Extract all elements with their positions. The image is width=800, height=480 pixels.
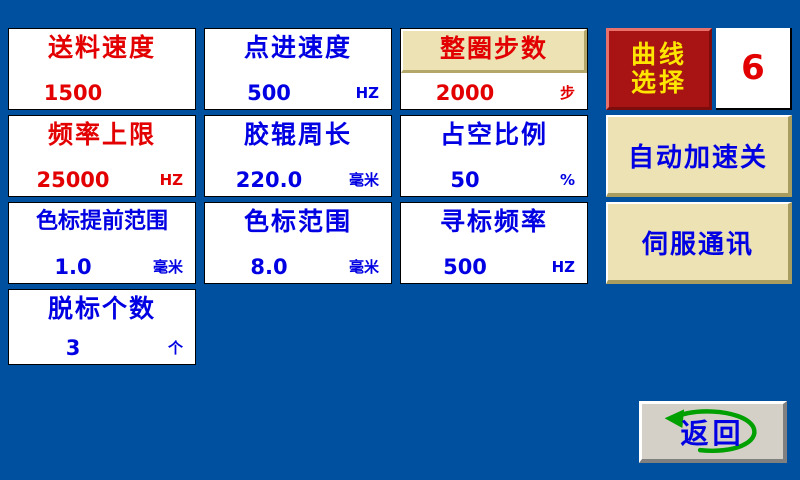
param-unit: HZ (160, 170, 183, 190)
param-title: 送料速度 (9, 33, 195, 63)
servo-comm-label: 伺服通讯 (642, 224, 754, 261)
param-unit: 个 (168, 338, 183, 358)
curve-select-label-line2: 选择 (631, 69, 687, 97)
param-title: 整圈步数 (401, 34, 587, 64)
param-title: 色标范围 (205, 207, 391, 237)
param-value: 500 (205, 82, 333, 104)
param-unit: 毫米 (153, 257, 183, 277)
param-value: 2000 (401, 82, 529, 104)
param-title: 胶辊周长 (205, 120, 391, 150)
param-cell-duty-ratio[interactable]: 占空比例 50 % (400, 115, 588, 197)
param-cell-mark-seek-frequency[interactable]: 寻标频率 500 HZ (400, 202, 588, 284)
param-value: 3 (9, 337, 137, 359)
param-cell-mark-range[interactable]: 色标范围 8.0 毫米 (204, 202, 392, 284)
param-unit: HZ (552, 257, 575, 277)
param-title: 频率上限 (9, 120, 195, 150)
param-cell-roller-circumference[interactable]: 胶辊周长 220.0 毫米 (204, 115, 392, 197)
param-value: 1500 (9, 82, 137, 104)
param-cell-mark-advance-range[interactable]: 色标提前范围 1.0 毫米 (8, 202, 196, 284)
curve-select-label-line1: 曲线 (631, 41, 687, 69)
return-button-label: 返回 (642, 412, 783, 452)
curve-select-button[interactable]: 曲线 选择 (606, 28, 712, 110)
param-cell-jog-speed[interactable]: 点进速度 500 HZ (204, 28, 392, 110)
param-title: 脱标个数 (9, 294, 195, 324)
param-unit: HZ (356, 83, 379, 103)
param-unit: % (560, 170, 575, 190)
param-cell-full-turn-steps[interactable]: 整圈步数 2000 步 (400, 28, 588, 110)
curve-select-value[interactable]: 6 (716, 28, 792, 110)
param-unit: 毫米 (349, 170, 379, 190)
param-title: 寻标频率 (401, 207, 587, 237)
param-cell-frequency-upper-limit[interactable]: 频率上限 25000 HZ (8, 115, 196, 197)
curve-select-value-text: 6 (741, 48, 765, 88)
param-value: 1.0 (9, 256, 137, 278)
param-title: 点进速度 (205, 33, 391, 63)
param-title: 占空比例 (401, 120, 587, 150)
param-value: 220.0 (205, 169, 333, 191)
param-unit: 毫米 (349, 257, 379, 277)
param-cell-missed-mark-count[interactable]: 脱标个数 3 个 (8, 289, 196, 365)
return-button[interactable]: 返回 (639, 401, 787, 463)
param-unit: 步 (560, 83, 575, 103)
auto-accel-toggle-label: 自动加速关 (628, 137, 768, 174)
auto-accel-toggle-button[interactable]: 自动加速关 (606, 115, 792, 197)
param-value: 25000 (9, 169, 137, 191)
param-value: 8.0 (205, 256, 333, 278)
hmi-screen: 送料速度 1500 点进速度 500 HZ 整圈步数 2000 步 曲线 选择 … (0, 0, 800, 480)
param-value: 50 (401, 169, 529, 191)
servo-comm-button[interactable]: 伺服通讯 (606, 202, 792, 284)
param-title: 色标提前范围 (9, 207, 195, 237)
param-cell-feed-speed[interactable]: 送料速度 1500 (8, 28, 196, 110)
param-value: 500 (401, 256, 529, 278)
